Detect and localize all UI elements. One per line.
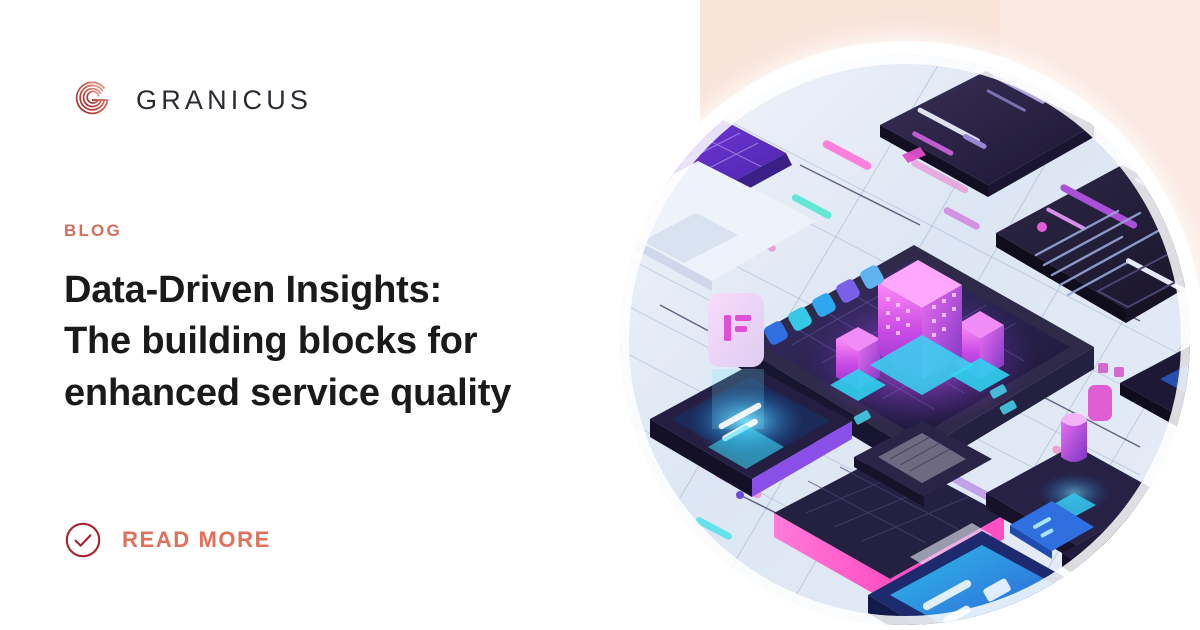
hero-clip (620, 55, 1190, 625)
page-title: Data-Driven Insights: The building block… (64, 265, 584, 419)
category-eyebrow: BLOG (64, 222, 600, 239)
isometric-tech-illustration (620, 55, 1190, 625)
granicus-g-mark-icon (64, 72, 120, 128)
blog-promo-card: GRANICUS BLOG Data-Driven Insights: The … (0, 0, 1200, 630)
headline-line-1: Data-Driven Insights: (64, 265, 584, 316)
brand-logo[interactable]: GRANICUS (64, 72, 600, 128)
content-column: GRANICUS BLOG Data-Driven Insights: The … (0, 0, 600, 630)
brand-wordmark: GRANICUS (136, 87, 312, 114)
hero-image (613, 48, 1197, 630)
headline-line-3: enhanced service quality (64, 368, 584, 419)
headline-line-2: The building blocks for (64, 316, 584, 367)
